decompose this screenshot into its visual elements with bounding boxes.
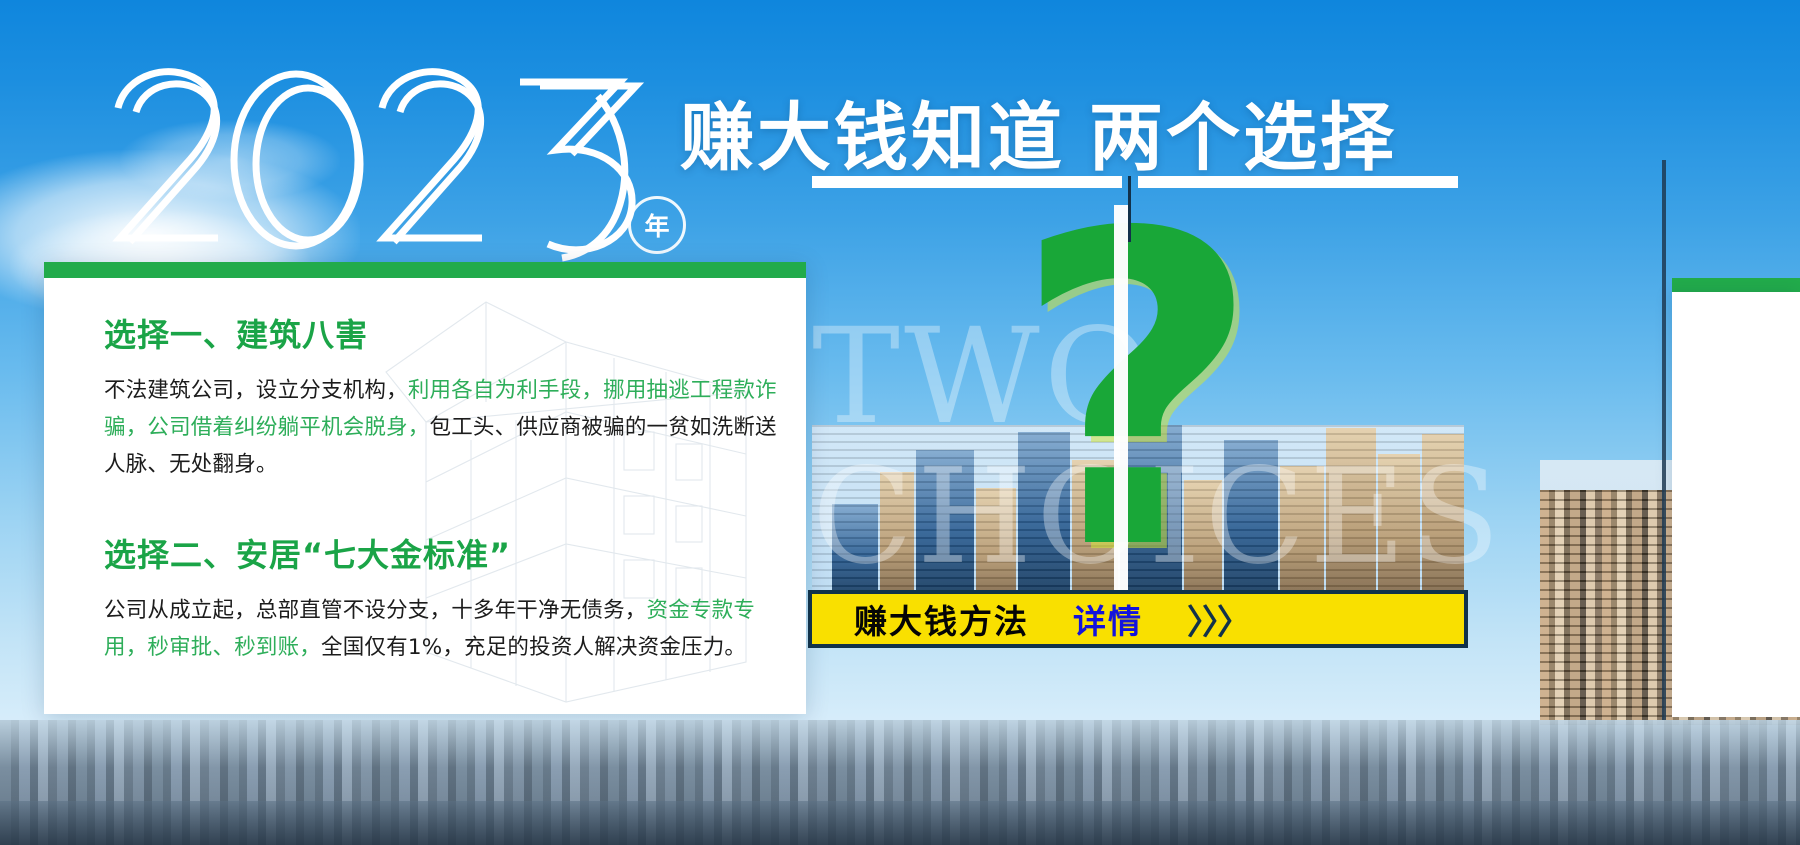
section-2-text-c: 全国仅有1%，充足的投资人解决资金压力。	[321, 635, 746, 660]
card-green-topbar	[44, 262, 806, 278]
cta-main-label: 赚大钱方法	[854, 595, 1029, 643]
headline-part-1: 赚大钱知道	[680, 95, 1065, 181]
headline-rule-tick	[1128, 176, 1131, 242]
question-mark-slot-divider	[1114, 205, 1128, 595]
question-mark-icon: ?	[1012, 190, 1261, 599]
card-section-1: 选择一、建筑八害 不法建筑公司，设立分支机构，利用各自为利手段，挪用抽逃工程款诈…	[104, 310, 784, 484]
bottom-city-strip	[0, 720, 1800, 845]
section-2-body: 公司从成立起，总部直管不设分支，十多年干净无债务，资金专款专用，秒审批、秒到账，…	[104, 593, 794, 667]
cta-detail-link[interactable]: 详情	[1073, 595, 1143, 643]
section-1-title: 选择一、建筑八害	[104, 310, 784, 356]
right-white-panel	[1672, 292, 1800, 717]
year-2023-graphic	[100, 52, 680, 282]
section-1-body: 不法建筑公司，设立分支机构，利用各自为利手段，挪用抽逃工程款诈骗，公司借着纠纷躺…	[104, 373, 784, 484]
headline-rule-right	[1138, 176, 1458, 188]
year-unit-badge: 年	[628, 196, 686, 254]
chevron-right-icon: 〉〉〉	[1187, 595, 1249, 644]
section-2-title: 选择二、安居“七大金标准”	[104, 530, 794, 576]
content-card: 选择一、建筑八害 不法建筑公司，设立分支机构，利用各自为利手段，挪用抽逃工程款诈…	[44, 262, 806, 714]
right-panel-green-cap	[1672, 278, 1800, 293]
section-1-text-a: 不法建筑公司，设立分支机构，	[104, 378, 408, 403]
poster-root: TWO CHOICES ? 年 赚大钱知道两个选择	[0, 0, 1800, 845]
headline-part-2: 两个选择	[1089, 95, 1397, 181]
page-title: 赚大钱知道两个选择	[680, 78, 1397, 185]
cta-banner[interactable]: 赚大钱方法 详情 〉〉〉	[808, 590, 1468, 648]
card-section-2: 选择二、安居“七大金标准” 公司从成立起，总部直管不设分支，十多年干净无债务，资…	[104, 530, 794, 667]
panel-seam-line	[1662, 160, 1666, 720]
section-2-text-a: 公司从成立起，总部直管不设分支，十多年干净无债务，	[104, 598, 647, 623]
headline-rule-left	[812, 176, 1122, 188]
